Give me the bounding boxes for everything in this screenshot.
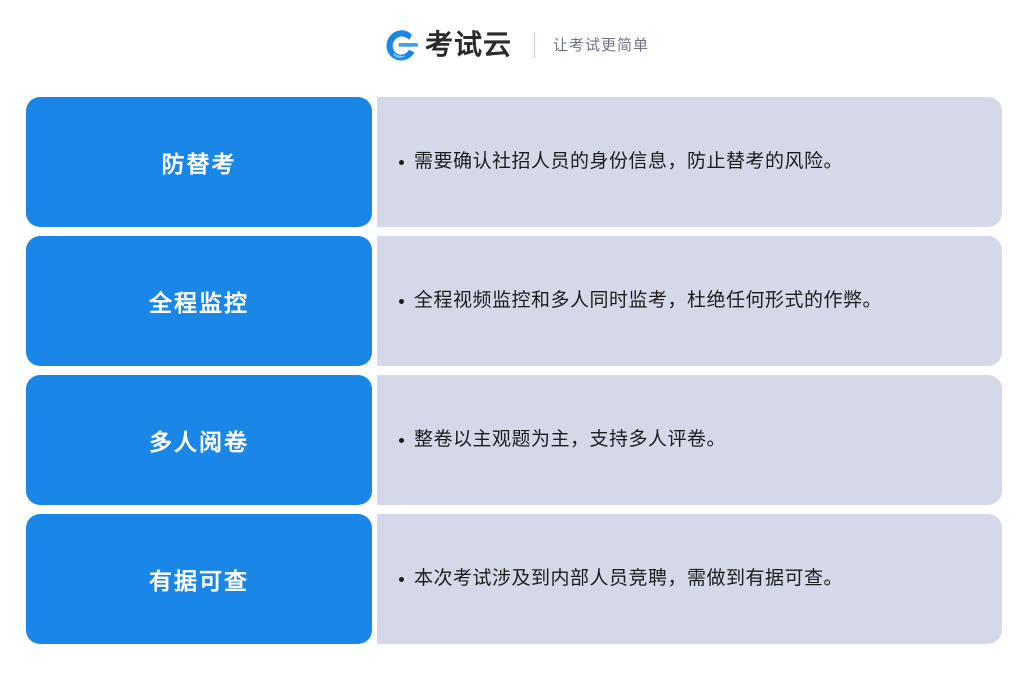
brand-name: 考试云	[425, 31, 512, 59]
feature-row: 多人阅卷 整卷以主观题为主，支持多人评卷。	[0, 375, 1030, 505]
feature-description: 全程视频监控和多人同时监考，杜绝任何形式的作弊。	[414, 288, 882, 315]
feature-description: 本次考试涉及到内部人员竞聘，需做到有据可查。	[414, 566, 843, 593]
e-swoosh-logo-icon	[381, 24, 423, 66]
feature-row: 防替考 需要确认社招人员的身份信息，防止替考的风险。	[0, 97, 1030, 227]
feature-row: 有据可查 本次考试涉及到内部人员竞聘，需做到有据可查。	[0, 514, 1030, 644]
bullet-line: 本次考试涉及到内部人员竞聘，需做到有据可查。	[377, 566, 843, 593]
feature-panel: 本次考试涉及到内部人员竞聘，需做到有据可查。	[377, 514, 1002, 644]
bullet-dot-icon	[399, 299, 404, 304]
feature-tag: 有据可查	[26, 514, 372, 644]
brand-logo: 考试云	[381, 24, 512, 66]
feature-panel: 全程视频监控和多人同时监考，杜绝任何形式的作弊。	[377, 236, 1002, 366]
page-header: 考试云 让考试更简单	[0, 0, 1030, 90]
feature-description: 需要确认社招人员的身份信息，防止替考的风险。	[414, 149, 843, 176]
feature-row: 全程监控 全程视频监控和多人同时监考，杜绝任何形式的作弊。	[0, 236, 1030, 366]
feature-tag-label: 多人阅卷	[149, 423, 249, 457]
bullet-dot-icon	[399, 160, 404, 165]
brand-tagline: 让考试更简单	[553, 38, 649, 53]
bullet-dot-icon	[399, 438, 404, 443]
bullet-dot-icon	[399, 577, 404, 582]
feature-tag: 多人阅卷	[26, 375, 372, 505]
feature-tag-label: 全程监控	[149, 284, 249, 318]
feature-panel: 整卷以主观题为主，支持多人评卷。	[377, 375, 1002, 505]
feature-description: 整卷以主观题为主，支持多人评卷。	[414, 427, 726, 454]
feature-tag: 全程监控	[26, 236, 372, 366]
feature-panel: 需要确认社招人员的身份信息，防止替考的风险。	[377, 97, 1002, 227]
header-divider	[534, 32, 535, 58]
feature-rows: 防替考 需要确认社招人员的身份信息，防止替考的风险。 全程监控 全程视频监控和多…	[0, 97, 1030, 644]
bullet-line: 整卷以主观题为主，支持多人评卷。	[377, 427, 726, 454]
feature-tag: 防替考	[26, 97, 372, 227]
bullet-line: 需要确认社招人员的身份信息，防止替考的风险。	[377, 149, 843, 176]
bullet-line: 全程视频监控和多人同时监考，杜绝任何形式的作弊。	[377, 288, 882, 315]
feature-tag-label: 防替考	[162, 145, 237, 179]
feature-tag-label: 有据可查	[149, 562, 249, 596]
